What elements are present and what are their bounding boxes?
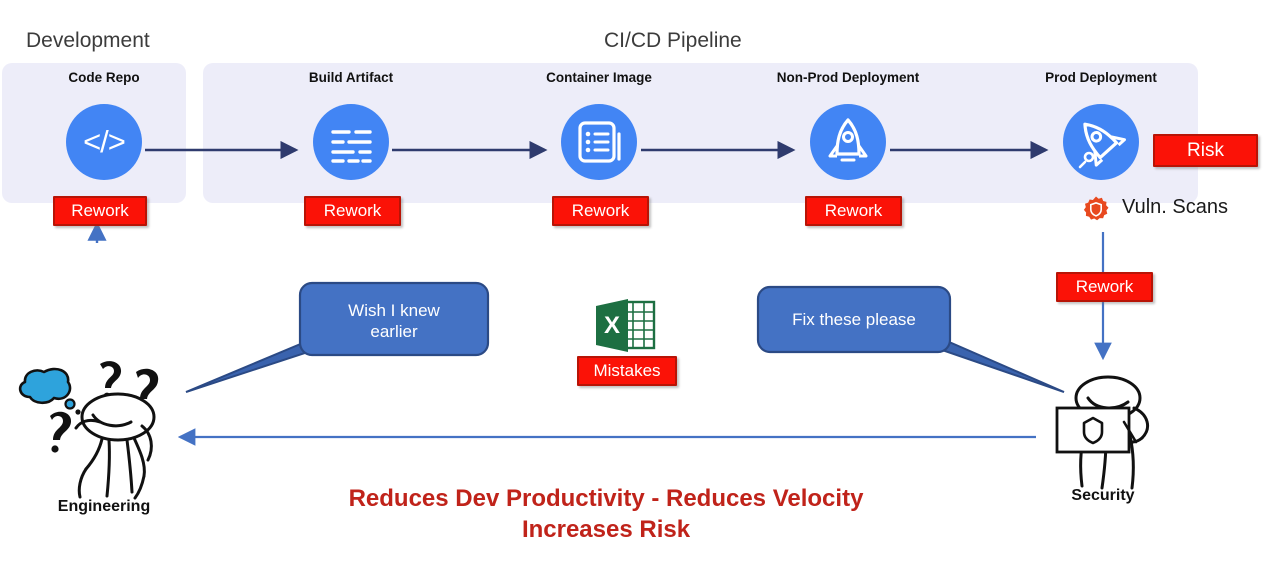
excel-spreadsheet-icon: X [592, 296, 658, 358]
diagram-canvas: Development CI/CD Pipeline Code Repo [0, 0, 1272, 562]
vuln-scans-label: Vuln. Scans [1122, 196, 1228, 219]
pipeline-stage-non-prod-deployment[interactable]: Non-Prod Deployment [763, 70, 933, 180]
container-doc-icon [561, 104, 637, 180]
section-title-development: Development [26, 29, 150, 53]
badge-rework-non-prod[interactable]: Rework [805, 196, 902, 226]
actor-label-security: Security [1032, 487, 1174, 505]
stage-label: Prod Deployment [1016, 70, 1186, 102]
shield-gear-icon [1082, 196, 1110, 224]
rocket-upright-icon [810, 104, 886, 180]
confused-person-icon [14, 356, 199, 501]
svg-text:X: X [604, 312, 620, 339]
build-lines-icon [313, 104, 389, 180]
badge-rework-container-image[interactable]: Rework [552, 196, 649, 226]
pipeline-stage-code-repo[interactable]: Code Repo </> [19, 70, 189, 180]
pipeline-stage-container-image[interactable]: Container Image [514, 70, 684, 180]
bubble-text-engineering: Wish I knew earlier [300, 300, 488, 342]
badge-rework-security[interactable]: Rework [1056, 272, 1153, 302]
code-brackets-icon: </> [66, 104, 142, 180]
section-title-cicd: CI/CD Pipeline [604, 29, 742, 53]
rocket-tilted-icon [1063, 104, 1139, 180]
caption-text: Reduces Dev Productivity - Reduces Veloc… [206, 483, 1006, 545]
bubble-text-security: Fix these please [758, 309, 950, 330]
badge-risk[interactable]: Risk [1153, 134, 1258, 167]
stage-label: Build Artifact [266, 70, 436, 102]
badge-rework-build-artifact[interactable]: Rework [304, 196, 401, 226]
stage-label: Non-Prod Deployment [763, 70, 933, 102]
bubble-tail-engineering [186, 340, 310, 392]
stage-label: Container Image [514, 70, 684, 102]
pipeline-stage-build-artifact[interactable]: Build Artifact [266, 70, 436, 180]
badge-mistakes[interactable]: Mistakes [577, 356, 677, 386]
person-clipboard-icon [1036, 370, 1181, 495]
badge-rework-code-repo[interactable]: Rework [53, 196, 147, 226]
actor-label-engineering: Engineering [14, 498, 194, 516]
stage-label: Code Repo [19, 70, 189, 102]
